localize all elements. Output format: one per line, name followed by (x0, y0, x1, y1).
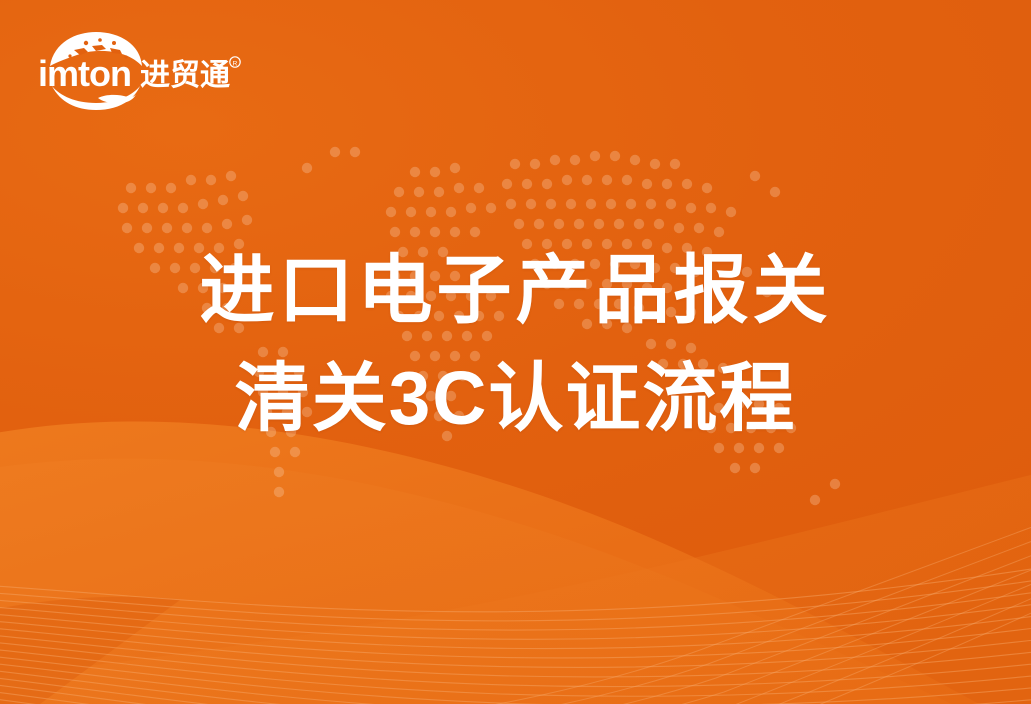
headline-line-1: 进口电子产品报关 (0, 236, 1031, 344)
headline-block: 进口电子产品报关 清关3C认证流程 (0, 236, 1031, 452)
headline-line-2: 清关3C认证流程 (0, 344, 1031, 452)
svg-text:imton: imton (38, 53, 131, 94)
logo-wordmark: imton (38, 53, 131, 94)
brand-logo[interactable]: imton 进贸通 R (36, 24, 266, 110)
svg-text:R: R (233, 61, 238, 68)
svg-text:进贸通: 进贸通 (140, 59, 230, 92)
promo-banner: imton 进贸通 R 进口电子产品报关 清关3C认证流程 (0, 0, 1031, 704)
logo-chinese-name: 进贸通 (140, 59, 230, 92)
trademark-icon: R (230, 57, 240, 68)
